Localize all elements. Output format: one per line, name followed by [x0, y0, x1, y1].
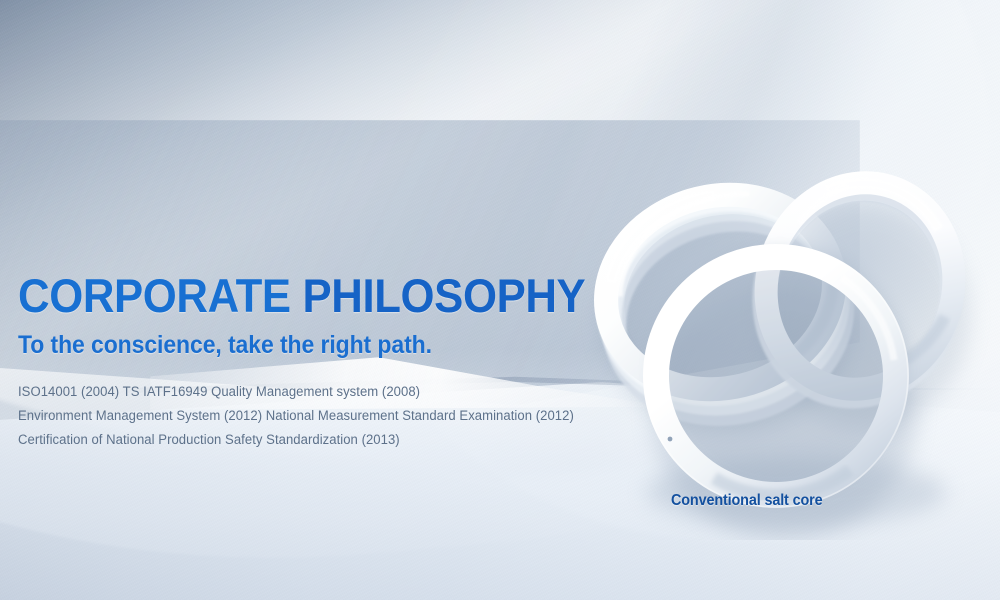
background-ledge-line — [640, 388, 1000, 390]
copy-block: CORPORATE PHILOSOPHY To the conscience, … — [18, 272, 638, 452]
page-title-word-corporate: CORPORATE — [18, 269, 291, 322]
certification-line-2: Environment Management System (2012) Nat… — [18, 404, 619, 428]
ring-cast-shadows — [602, 204, 970, 540]
corporate-philosophy-banner: CORPORATE PHILOSOPHY To the conscience, … — [0, 0, 1000, 600]
page-subtitle: To the conscience, take the right path. — [18, 332, 588, 358]
page-title-space — [291, 269, 303, 322]
product-caption: Conventional salt core — [671, 492, 822, 510]
page-title: CORPORATE PHILOSOPHY — [18, 272, 595, 320]
ring-front — [644, 245, 908, 507]
page-title-word-philosophy: PHILOSOPHY — [302, 269, 585, 322]
ring-back-right — [740, 160, 978, 419]
certification-line-1: ISO14001 (2004) TS IATF16949 Quality Man… — [18, 380, 619, 404]
certification-line-3: Certification of National Production Saf… — [18, 428, 619, 452]
certification-list: ISO14001 (2004) TS IATF16949 Quality Man… — [18, 380, 619, 452]
